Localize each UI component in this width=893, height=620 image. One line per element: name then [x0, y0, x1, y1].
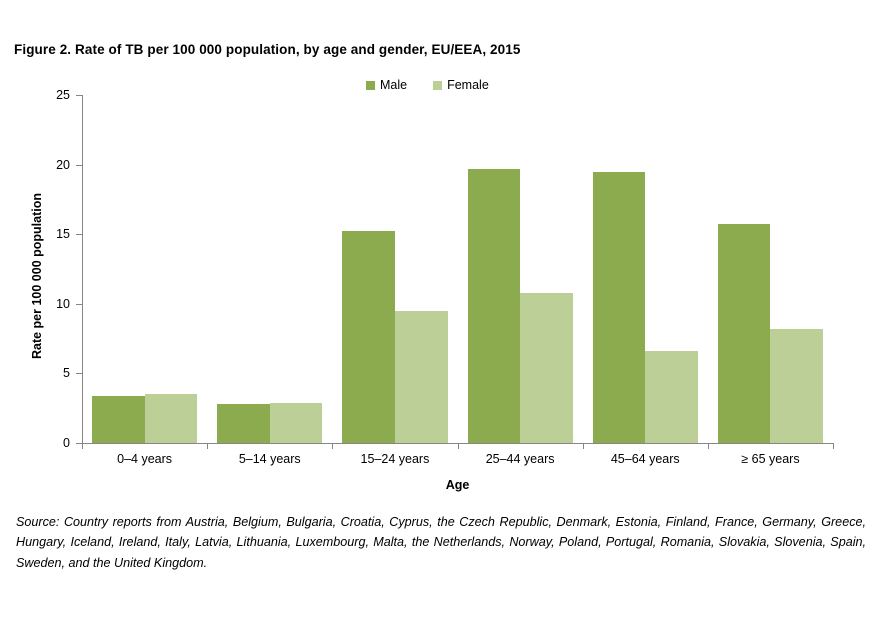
x-tick-mark: [332, 443, 333, 449]
bar-male: [217, 404, 270, 443]
bar-chart: 0510152025 0–4 years5–14 years15–24 year…: [0, 0, 893, 500]
bar-group: [207, 95, 332, 443]
source-note: Source: Country reports from Austria, Be…: [16, 512, 866, 573]
x-category-label: 0–4 years: [82, 452, 207, 466]
bar-male: [342, 231, 395, 443]
y-tick-label: 25: [30, 88, 70, 102]
bar-female: [145, 394, 198, 443]
x-category-label: 45–64 years: [583, 452, 708, 466]
bar-group: [332, 95, 457, 443]
bar-female: [770, 329, 823, 443]
bar-group: [583, 95, 708, 443]
x-tick-mark: [708, 443, 709, 449]
x-category-label: 15–24 years: [332, 452, 457, 466]
bar-groups: [82, 95, 833, 443]
x-axis-title: Age: [82, 478, 833, 492]
bar-male: [593, 172, 646, 443]
x-axis-category-labels: 0–4 years5–14 years15–24 years25–44 year…: [82, 452, 833, 466]
x-tick-mark: [833, 443, 834, 449]
y-tick-label: 0: [30, 436, 70, 450]
x-tick-mark: [82, 443, 83, 449]
bar-group: [82, 95, 207, 443]
bar-group: [708, 95, 833, 443]
x-category-label: 5–14 years: [207, 452, 332, 466]
y-axis-title: Rate per 100 000 population: [30, 146, 44, 406]
bar-female: [645, 351, 698, 443]
bar-group: [458, 95, 583, 443]
x-tick-mark: [207, 443, 208, 449]
x-category-label: ≥ 65 years: [708, 452, 833, 466]
x-category-label: 25–44 years: [458, 452, 583, 466]
bar-female: [270, 403, 323, 443]
bar-male: [718, 224, 771, 443]
bar-male: [468, 169, 521, 443]
x-tick-mark: [583, 443, 584, 449]
bar-female: [520, 293, 573, 443]
bar-male: [92, 396, 145, 443]
figure-page: Figure 2. Rate of TB per 100 000 populat…: [0, 0, 893, 620]
bar-female: [395, 311, 448, 443]
x-tick-mark: [458, 443, 459, 449]
